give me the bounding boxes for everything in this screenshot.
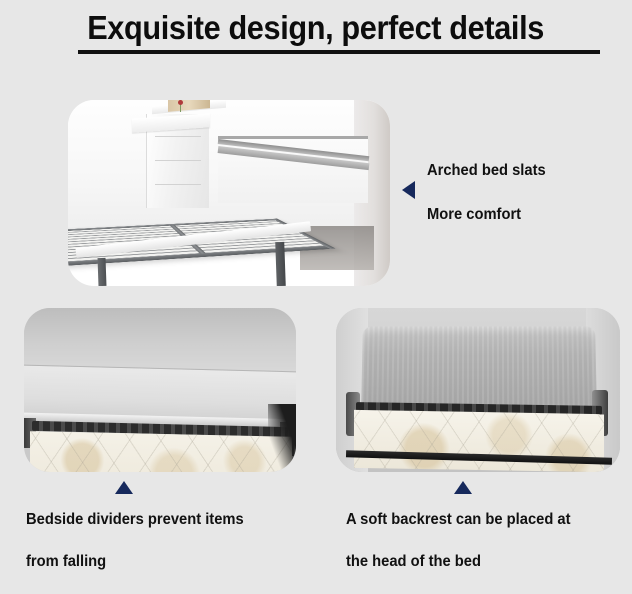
backrest-scene-illustration	[336, 308, 620, 472]
headboard-backing	[24, 308, 296, 374]
title-block: Exquisite design, perfect details	[0, 8, 632, 48]
caption-more-comfort: More comfort	[427, 198, 521, 232]
triangle-up-icon	[454, 481, 472, 494]
fabric-texture	[361, 326, 597, 406]
caption-bedside-divider-line1: Bedside dividers prevent items	[26, 503, 244, 537]
title-underline	[78, 50, 600, 54]
quilt-pattern	[30, 431, 292, 472]
flower-stem	[180, 104, 181, 112]
divider-scene-illustration	[24, 308, 296, 472]
photo-arched-bed-slats	[68, 100, 390, 286]
support-leg-left	[98, 258, 107, 286]
caption-soft-backrest-line2: the head of the bed	[346, 545, 481, 579]
caption-soft-backrest-line1: A soft backrest can be placed at	[346, 503, 571, 537]
photo-soft-backrest	[336, 308, 620, 472]
corner-shadow	[268, 404, 296, 472]
support-leg-right	[275, 242, 286, 286]
caption-bedside-divider-line2: from falling	[26, 545, 106, 579]
quilted-mattress	[30, 431, 292, 472]
triangle-up-icon	[115, 481, 133, 494]
page-title: Exquisite design, perfect details	[88, 8, 545, 48]
flower-icon	[178, 100, 183, 105]
soft-backrest-cushion	[361, 326, 597, 406]
triangle-left-icon	[402, 181, 415, 199]
bed-scene-illustration	[68, 100, 390, 286]
caption-arched-bed-slats: Arched bed slats	[427, 154, 546, 188]
photo-bedside-divider	[24, 308, 296, 472]
